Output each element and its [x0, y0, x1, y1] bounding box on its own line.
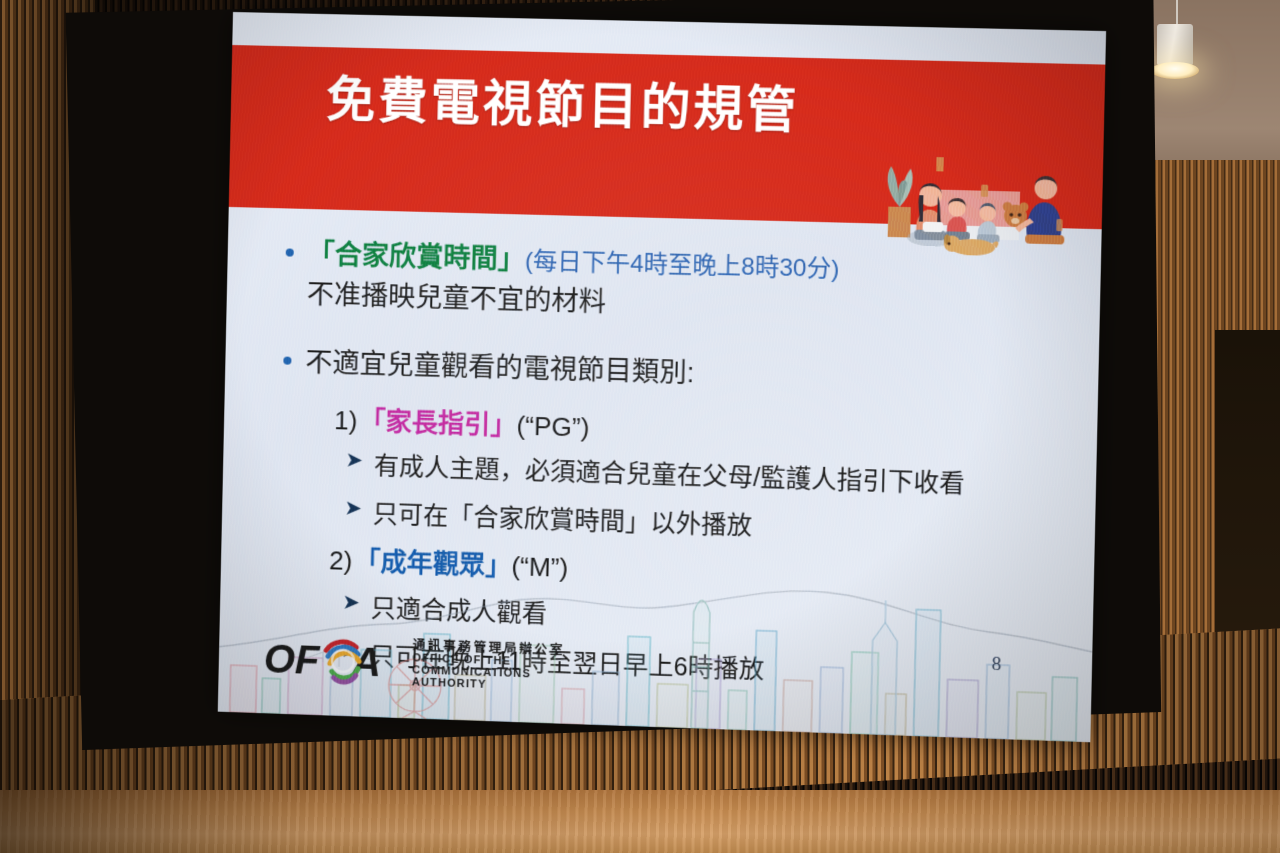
bullet-dot-icon-2 — [283, 357, 291, 365]
page-number: 8 — [991, 654, 1001, 677]
family-viewing-hours: (每日下午4時至晚上8時30分) — [525, 248, 840, 284]
cup-icon — [981, 185, 988, 197]
category-1-number: 1) — [334, 405, 358, 436]
category-1-term: 「家長指引」 — [359, 406, 517, 441]
family-viewing-rule: 不准播映兒童不宜的材料 — [306, 276, 838, 327]
left-wall-shadow — [0, 0, 95, 790]
unsuitable-categories-heading: 不適宜兒童觀看的電視節目類別: — [305, 347, 695, 388]
ofca-logo-mark: OF A — [263, 632, 404, 689]
arrow-bullet-icon-2: ➤ — [344, 498, 362, 520]
right-dark-recess — [1215, 330, 1280, 660]
family-illustration — [875, 135, 1073, 262]
ofca-name-en-2: COMMUNICATIONS AUTHORITY — [412, 664, 566, 694]
category-1-point-1-text: 有成人主題，必須適合兒童在父母/監護人指引下收看 — [374, 446, 966, 500]
category-1-point-1: ➤ 有成人主題，必須適合兒童在父母/監護人指引下收看 — [345, 445, 1057, 503]
floor-shadow — [0, 790, 1280, 853]
cup-icon-2 — [1056, 219, 1062, 231]
ofca-logo-text: 通訊事務管理局辦公室 OFFICE OF THE COMMUNICATIONS … — [412, 638, 566, 694]
ofca-logo: OF A 通訊事務管理局辦公室 OFFICE OF — [263, 631, 566, 695]
svg-text:OF: OF — [263, 637, 321, 683]
bullet-item-2: 不適宜兒童觀看的電視節目類別: — [283, 344, 994, 401]
category-1-abbr: (“PG”) — [516, 410, 590, 442]
slide-canvas: 8 免費電視節目的規管 — [218, 12, 1106, 742]
plant-icon — [886, 166, 913, 237]
pendant-light-glow — [1151, 62, 1199, 79]
category-1: 1)「家長指引」(“PG”) — [334, 400, 590, 445]
arrow-bullet-icon: ➤ — [345, 449, 363, 471]
presentation-slide: 8 免費電視節目的規管 — [217, 12, 1114, 783]
pendant-wire — [1176, 0, 1178, 26]
screenshot-stage: 8 免費電視節目的規管 — [0, 0, 1280, 853]
pendant-lamp-icon — [1157, 24, 1193, 66]
family-viewing-term: 「合家欣賞時間」 — [307, 239, 525, 275]
bullet-dot-icon — [286, 248, 294, 256]
